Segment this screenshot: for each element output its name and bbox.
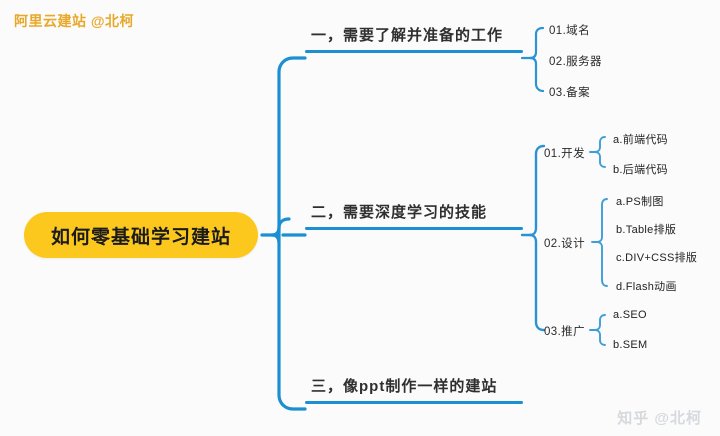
branch-1-label: 一，需要了解并准备的工作 bbox=[305, 24, 523, 50]
promo-child-1[interactable]: a.SEO bbox=[613, 309, 647, 321]
branch-2-label: 二，需要深度学习的技能 bbox=[305, 201, 523, 227]
design-child-3[interactable]: c.DIV+CSS排版 bbox=[616, 249, 697, 265]
branch-1-underline bbox=[305, 50, 523, 53]
branch-3-label: 三，像ppt制作一样的建站 bbox=[305, 375, 523, 401]
design-child-1[interactable]: a.PS制图 bbox=[616, 193, 664, 209]
dev-child-2[interactable]: b.后端代码 bbox=[613, 161, 668, 177]
mindmap-canvas: 阿里云建站 @北柯 bbox=[0, 0, 720, 436]
design-child-2[interactable]: b.Table排版 bbox=[616, 221, 676, 237]
branch-2[interactable]: 二，需要深度学习的技能 bbox=[305, 201, 523, 230]
branch-2-underline bbox=[305, 227, 523, 230]
branch-1[interactable]: 一，需要了解并准备的工作 bbox=[305, 24, 523, 53]
branch-1-child-1[interactable]: 01.域名 bbox=[549, 22, 590, 38]
dev-child-1[interactable]: a.前端代码 bbox=[613, 131, 668, 147]
promo-child-2[interactable]: b.SEM bbox=[613, 339, 648, 351]
branch-3-underline bbox=[305, 401, 523, 404]
branch-2-child-3[interactable]: 03.推广 bbox=[544, 323, 585, 339]
watermark-bottom-right: 知乎 @北柯 bbox=[617, 407, 702, 428]
root-node[interactable]: 如何零基础学习建站 bbox=[24, 212, 258, 258]
branch-1-child-3[interactable]: 03.备案 bbox=[549, 84, 590, 100]
branch-2-child-1[interactable]: 01.开发 bbox=[544, 145, 585, 161]
branch-2-child-2[interactable]: 02.设计 bbox=[544, 235, 585, 251]
root-node-label: 如何零基础学习建站 bbox=[51, 222, 231, 249]
branch-3[interactable]: 三，像ppt制作一样的建站 bbox=[305, 375, 523, 404]
branch-1-child-2[interactable]: 02.服务器 bbox=[549, 53, 602, 69]
design-child-4[interactable]: d.Flash动画 bbox=[616, 278, 677, 294]
